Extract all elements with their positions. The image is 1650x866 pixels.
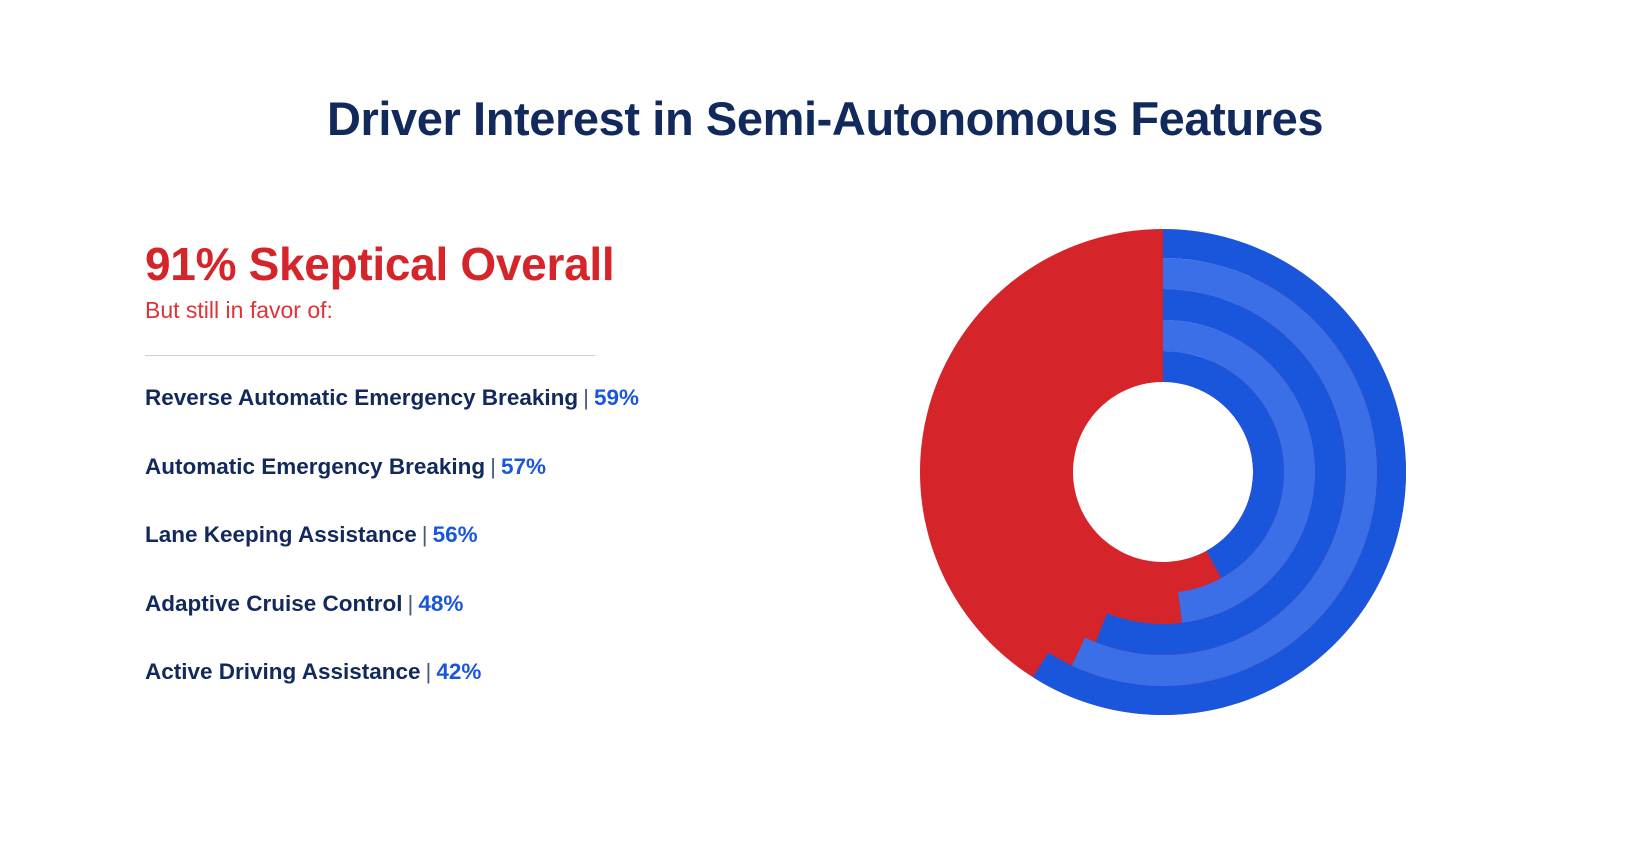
donut-chart <box>905 214 1421 730</box>
feature-label: Active Driving Assistance <box>145 659 421 684</box>
feature-label: Adaptive Cruise Control <box>145 591 403 616</box>
feature-separator: | <box>485 454 501 479</box>
feature-value: 56% <box>433 522 478 547</box>
feature-value: 59% <box>594 385 639 410</box>
feature-separator: | <box>417 522 433 547</box>
feature-label: Reverse Automatic Emergency Breaking <box>145 385 578 410</box>
skeptical-headline: 91% Skeptical Overall <box>145 238 845 291</box>
panel-divider <box>145 355 595 356</box>
feature-list: Reverse Automatic Emergency Breaking|59%… <box>145 387 845 684</box>
list-item: Automatic Emergency Breaking|57% <box>145 456 845 479</box>
list-item: Adaptive Cruise Control|48% <box>145 593 845 616</box>
feature-value: 42% <box>436 659 481 684</box>
list-item: Active Driving Assistance|42% <box>145 661 845 684</box>
feature-label: Lane Keeping Assistance <box>145 522 417 547</box>
feature-value: 48% <box>418 591 463 616</box>
feature-value: 57% <box>501 454 546 479</box>
feature-separator: | <box>403 591 419 616</box>
feature-separator: | <box>578 385 594 410</box>
stat-subtitle: But still in favor of: <box>145 297 845 325</box>
list-item: Lane Keeping Assistance|56% <box>145 524 845 547</box>
infographic-slide: Driver Interest in Semi-Autonomous Featu… <box>0 0 1650 866</box>
feature-label: Automatic Emergency Breaking <box>145 454 485 479</box>
list-item: Reverse Automatic Emergency Breaking|59% <box>145 387 845 410</box>
feature-separator: | <box>421 659 437 684</box>
donut-chart-svg <box>905 214 1421 730</box>
stats-panel: 91% Skeptical Overall But still in favor… <box>145 238 845 700</box>
page-title: Driver Interest in Semi-Autonomous Featu… <box>0 93 1650 145</box>
